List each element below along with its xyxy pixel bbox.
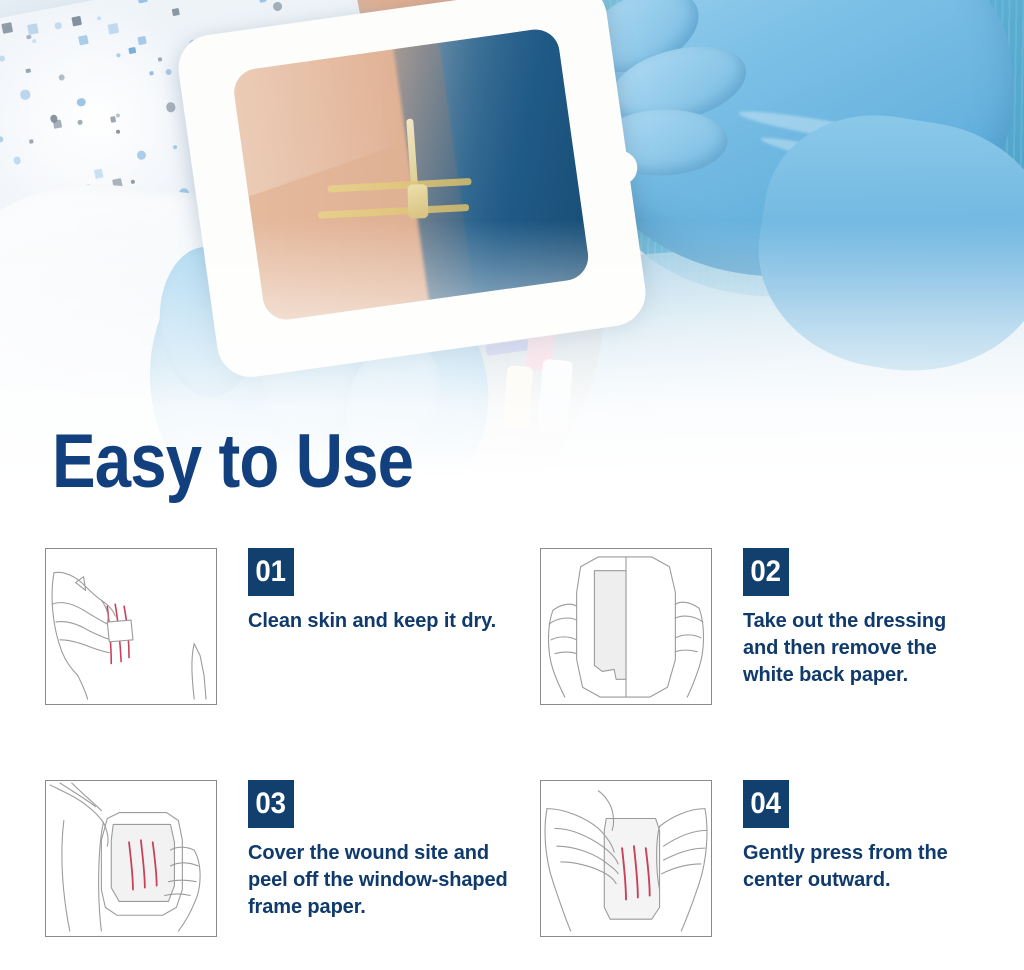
step-01-badge: 01	[248, 548, 294, 596]
step-01: 01 Clean skin and keep it dry.	[45, 548, 525, 738]
page-title: Easy to Use	[52, 424, 413, 500]
step-02-badge: 02	[743, 548, 789, 596]
peeling-back-paper-icon	[541, 549, 711, 704]
step-03-body: 03 Cover the wound site and peel off the…	[248, 780, 525, 921]
step-02-illustration	[540, 548, 712, 705]
step-02-number: 02	[751, 555, 782, 589]
step-03-badge: 03	[248, 780, 294, 828]
hand-wiping-wound-icon	[46, 549, 216, 704]
press-from-center-outward-icon	[541, 781, 711, 936]
step-03-number: 03	[256, 787, 287, 821]
step-03-illustration	[45, 780, 217, 937]
step-01-text: Clean skin and keep it dry.	[248, 608, 525, 635]
step-02-text: Take out the dressing and then remove th…	[743, 608, 1020, 689]
steps-grid: 01 Clean skin and keep it dry.	[0, 548, 1024, 937]
step-01-number: 01	[256, 555, 287, 589]
step-04-illustration	[540, 780, 712, 937]
step-04-badge: 04	[743, 780, 789, 828]
step-02-body: 02 Take out the dressing and then remove…	[743, 548, 1020, 689]
step-04: 04 Gently press from the center outward.	[540, 780, 1020, 970]
step-01-illustration	[45, 548, 217, 705]
cover-wound-peel-frame-icon	[46, 781, 216, 936]
step-02: 02 Take out the dressing and then remove…	[540, 548, 1020, 738]
step-04-text: Gently press from the center outward.	[743, 840, 1020, 894]
catheter-hub	[408, 184, 429, 219]
step-04-number: 04	[751, 787, 782, 821]
step-03-text: Cover the wound site and peel off the wi…	[248, 840, 525, 921]
step-04-body: 04 Gently press from the center outward.	[743, 780, 1020, 894]
step-01-body: 01 Clean skin and keep it dry.	[248, 548, 525, 635]
step-03: 03 Cover the wound site and peel off the…	[45, 780, 525, 970]
